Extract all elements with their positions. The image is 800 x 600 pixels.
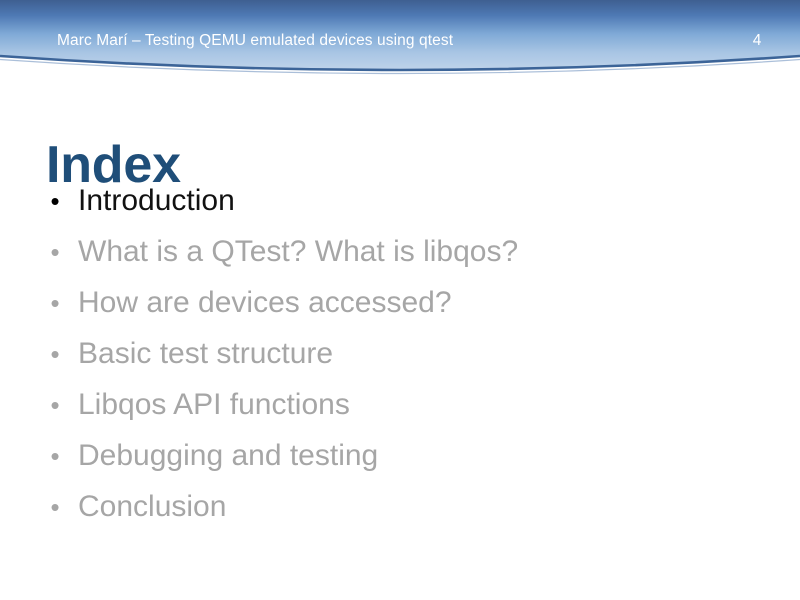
bullet-dot-icon: • — [47, 486, 63, 528]
list-item-label: What is a QTest? What is libqos? — [78, 235, 518, 268]
bullet-dot-icon: • — [47, 231, 63, 273]
slide-canvas: Marc Marí – Testing QEMU emulated device… — [0, 0, 800, 600]
slide-header-band: Marc Marí – Testing QEMU emulated device… — [0, 0, 800, 80]
list-item-label: Basic test structure — [78, 337, 333, 370]
list-item[interactable]: • How are devices accessed? — [44, 282, 754, 333]
bullet-dot-icon: • — [47, 435, 63, 477]
bullet-dot-icon: • — [47, 180, 63, 222]
list-item[interactable]: • What is a QTest? What is libqos? — [44, 231, 754, 282]
list-item-label: Debugging and testing — [78, 439, 378, 472]
list-item[interactable]: • Conclusion — [44, 486, 754, 537]
bullet-dot-icon: • — [47, 384, 63, 426]
list-item-label: Introduction — [78, 184, 235, 217]
slide-page-number: 4 — [742, 31, 772, 50]
list-item[interactable]: • Introduction — [44, 180, 754, 231]
list-item[interactable]: • Libqos API functions — [44, 384, 754, 435]
bullet-dot-icon: • — [47, 282, 63, 324]
list-item-label: Conclusion — [78, 490, 226, 523]
list-item-label: How are devices accessed? — [78, 286, 452, 319]
header-title: Marc Marí – Testing QEMU emulated device… — [57, 31, 453, 50]
list-item[interactable]: • Basic test structure — [44, 333, 754, 384]
index-bullet-list: • Introduction • What is a QTest? What i… — [44, 180, 754, 537]
bullet-dot-icon: • — [47, 333, 63, 375]
list-item-label: Libqos API functions — [78, 388, 350, 421]
list-item[interactable]: • Debugging and testing — [44, 435, 754, 486]
